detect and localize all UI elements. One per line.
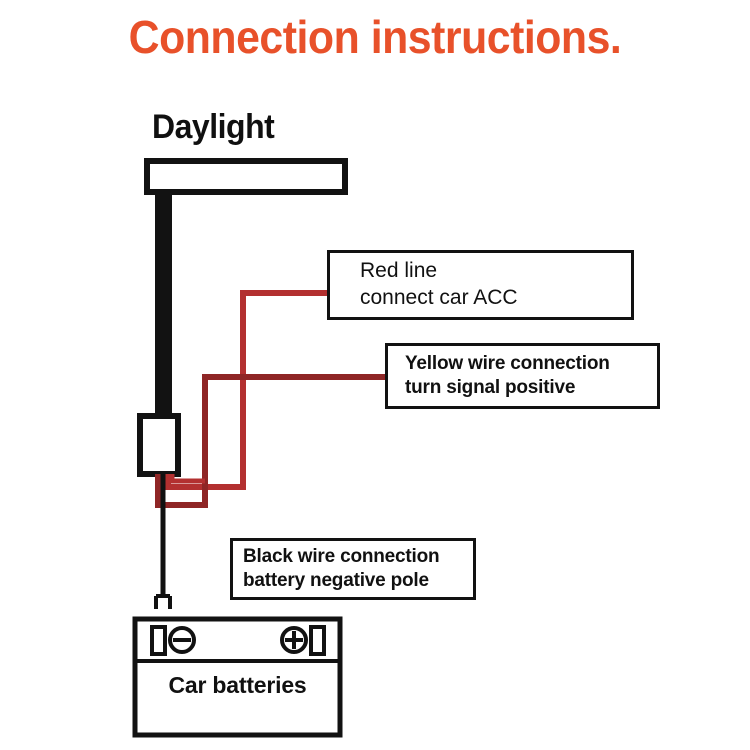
main-cable <box>155 190 172 418</box>
callout-yellow-wire: Yellow wire connection turn signal posit… <box>385 343 660 409</box>
callout-yellow-line-2: turn signal positive <box>405 376 657 400</box>
callout-yellow-line-1: Yellow wire connection <box>405 352 657 376</box>
callout-red-line-1: Red line <box>360 258 631 285</box>
callout-red-line-2: connect car ACC <box>360 285 631 312</box>
callout-black-line-2: battery negative pole <box>243 569 473 593</box>
negative-terminal-post <box>152 627 165 654</box>
callout-red-line: Red line connect car ACC <box>327 250 634 320</box>
wire-red-acc <box>168 293 330 487</box>
spade-terminal-icon <box>156 596 170 609</box>
daylight-bar <box>147 161 345 192</box>
diagram-page: Connection instructions. Daylight <box>0 0 750 750</box>
connector-box <box>140 416 178 474</box>
callout-black-wire: Black wire connection battery negative p… <box>230 538 476 600</box>
positive-terminal-post <box>311 627 324 654</box>
battery-label: Car batteries <box>135 672 340 699</box>
callout-black-line-1: Black wire connection <box>243 545 473 569</box>
